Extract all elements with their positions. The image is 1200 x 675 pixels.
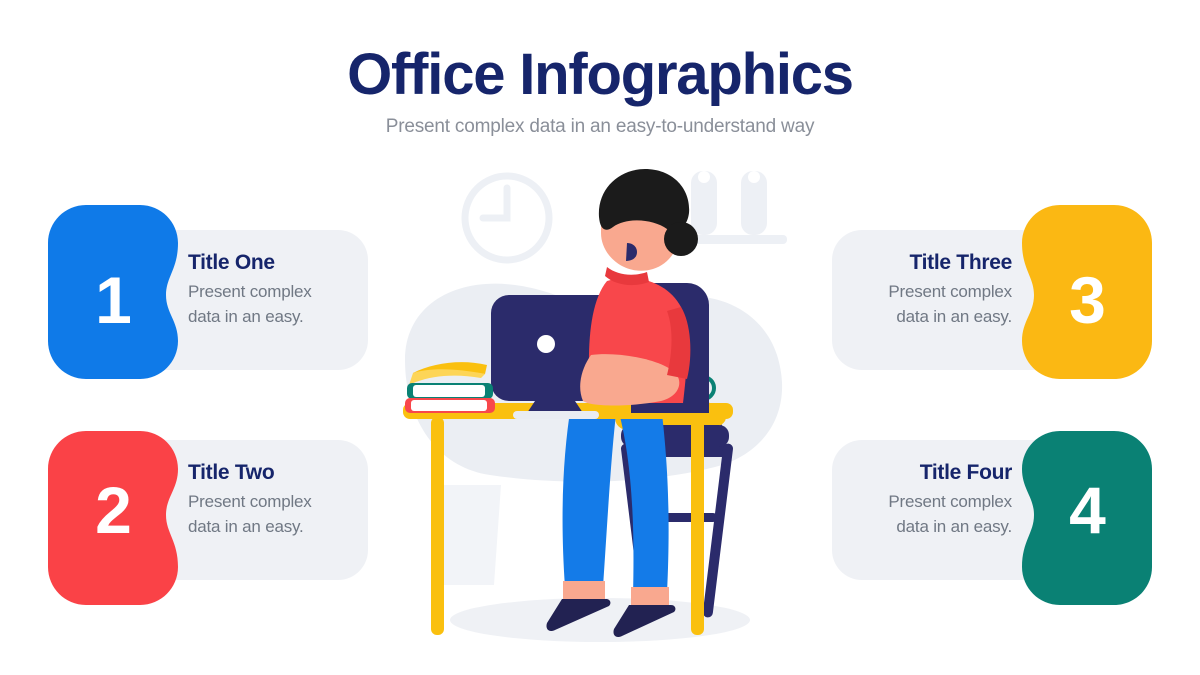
card-desc-2: Present complex data in an easy. xyxy=(188,490,403,539)
page-subtitle: Present complex data in an easy-to-under… xyxy=(0,116,1200,138)
card-desc-4: Present complex data in an easy. xyxy=(797,490,1012,539)
card-desc-line-1b: data in an easy. xyxy=(188,305,403,330)
card-desc-1: Present complex data in an easy. xyxy=(188,280,403,329)
badge-number-2: 2 xyxy=(48,415,178,605)
badge-number-4: 4 xyxy=(1022,415,1152,605)
illustration-woman-working-at-desk xyxy=(395,155,805,655)
card-desc-line-4b: data in an easy. xyxy=(797,515,1012,540)
info-card-4[interactable]: 4 Title Four Present complex data in an … xyxy=(832,415,1152,605)
badge-1: 1 xyxy=(48,205,193,395)
card-desc-line-2b: data in an easy. xyxy=(188,515,403,540)
badge-4: 4 xyxy=(1007,415,1152,605)
page-title: Office Infographics xyxy=(0,46,1200,104)
badge-2: 2 xyxy=(48,415,193,605)
badge-number-1: 1 xyxy=(48,205,178,395)
header: Office Infographics Present complex data… xyxy=(0,46,1200,138)
person-head xyxy=(599,169,698,285)
card-desc-line-2a: Present complex xyxy=(188,490,403,515)
wall-clock-icon xyxy=(465,176,549,260)
card-title-3: Title Three xyxy=(797,251,1012,275)
badge-3: 3 xyxy=(1007,205,1152,395)
info-card-3[interactable]: 3 Title Three Present complex data in an… xyxy=(832,205,1152,395)
badge-number-3: 3 xyxy=(1022,205,1152,395)
card-text-4: Title Four Present complex data in an ea… xyxy=(797,461,1012,539)
info-card-1[interactable]: 1 Title One Present complex data in an e… xyxy=(48,205,368,395)
card-desc-line-4a: Present complex xyxy=(797,490,1012,515)
card-desc-3: Present complex data in an easy. xyxy=(797,280,1012,329)
card-text-1: Title One Present complex data in an eas… xyxy=(188,251,403,329)
card-text-3: Title Three Present complex data in an e… xyxy=(797,251,1012,329)
card-title-2: Title Two xyxy=(188,461,403,485)
card-desc-line-3a: Present complex xyxy=(797,280,1012,305)
card-title-4: Title Four xyxy=(797,461,1012,485)
info-card-2[interactable]: 2 Title Two Present complex data in an e… xyxy=(48,415,368,605)
card-desc-line-1a: Present complex xyxy=(188,280,403,305)
card-title-1: Title One xyxy=(188,251,403,275)
card-text-2: Title Two Present complex data in an eas… xyxy=(188,461,403,539)
slide-canvas: Office Infographics Present complex data… xyxy=(0,0,1200,675)
card-desc-line-3b: data in an easy. xyxy=(797,305,1012,330)
